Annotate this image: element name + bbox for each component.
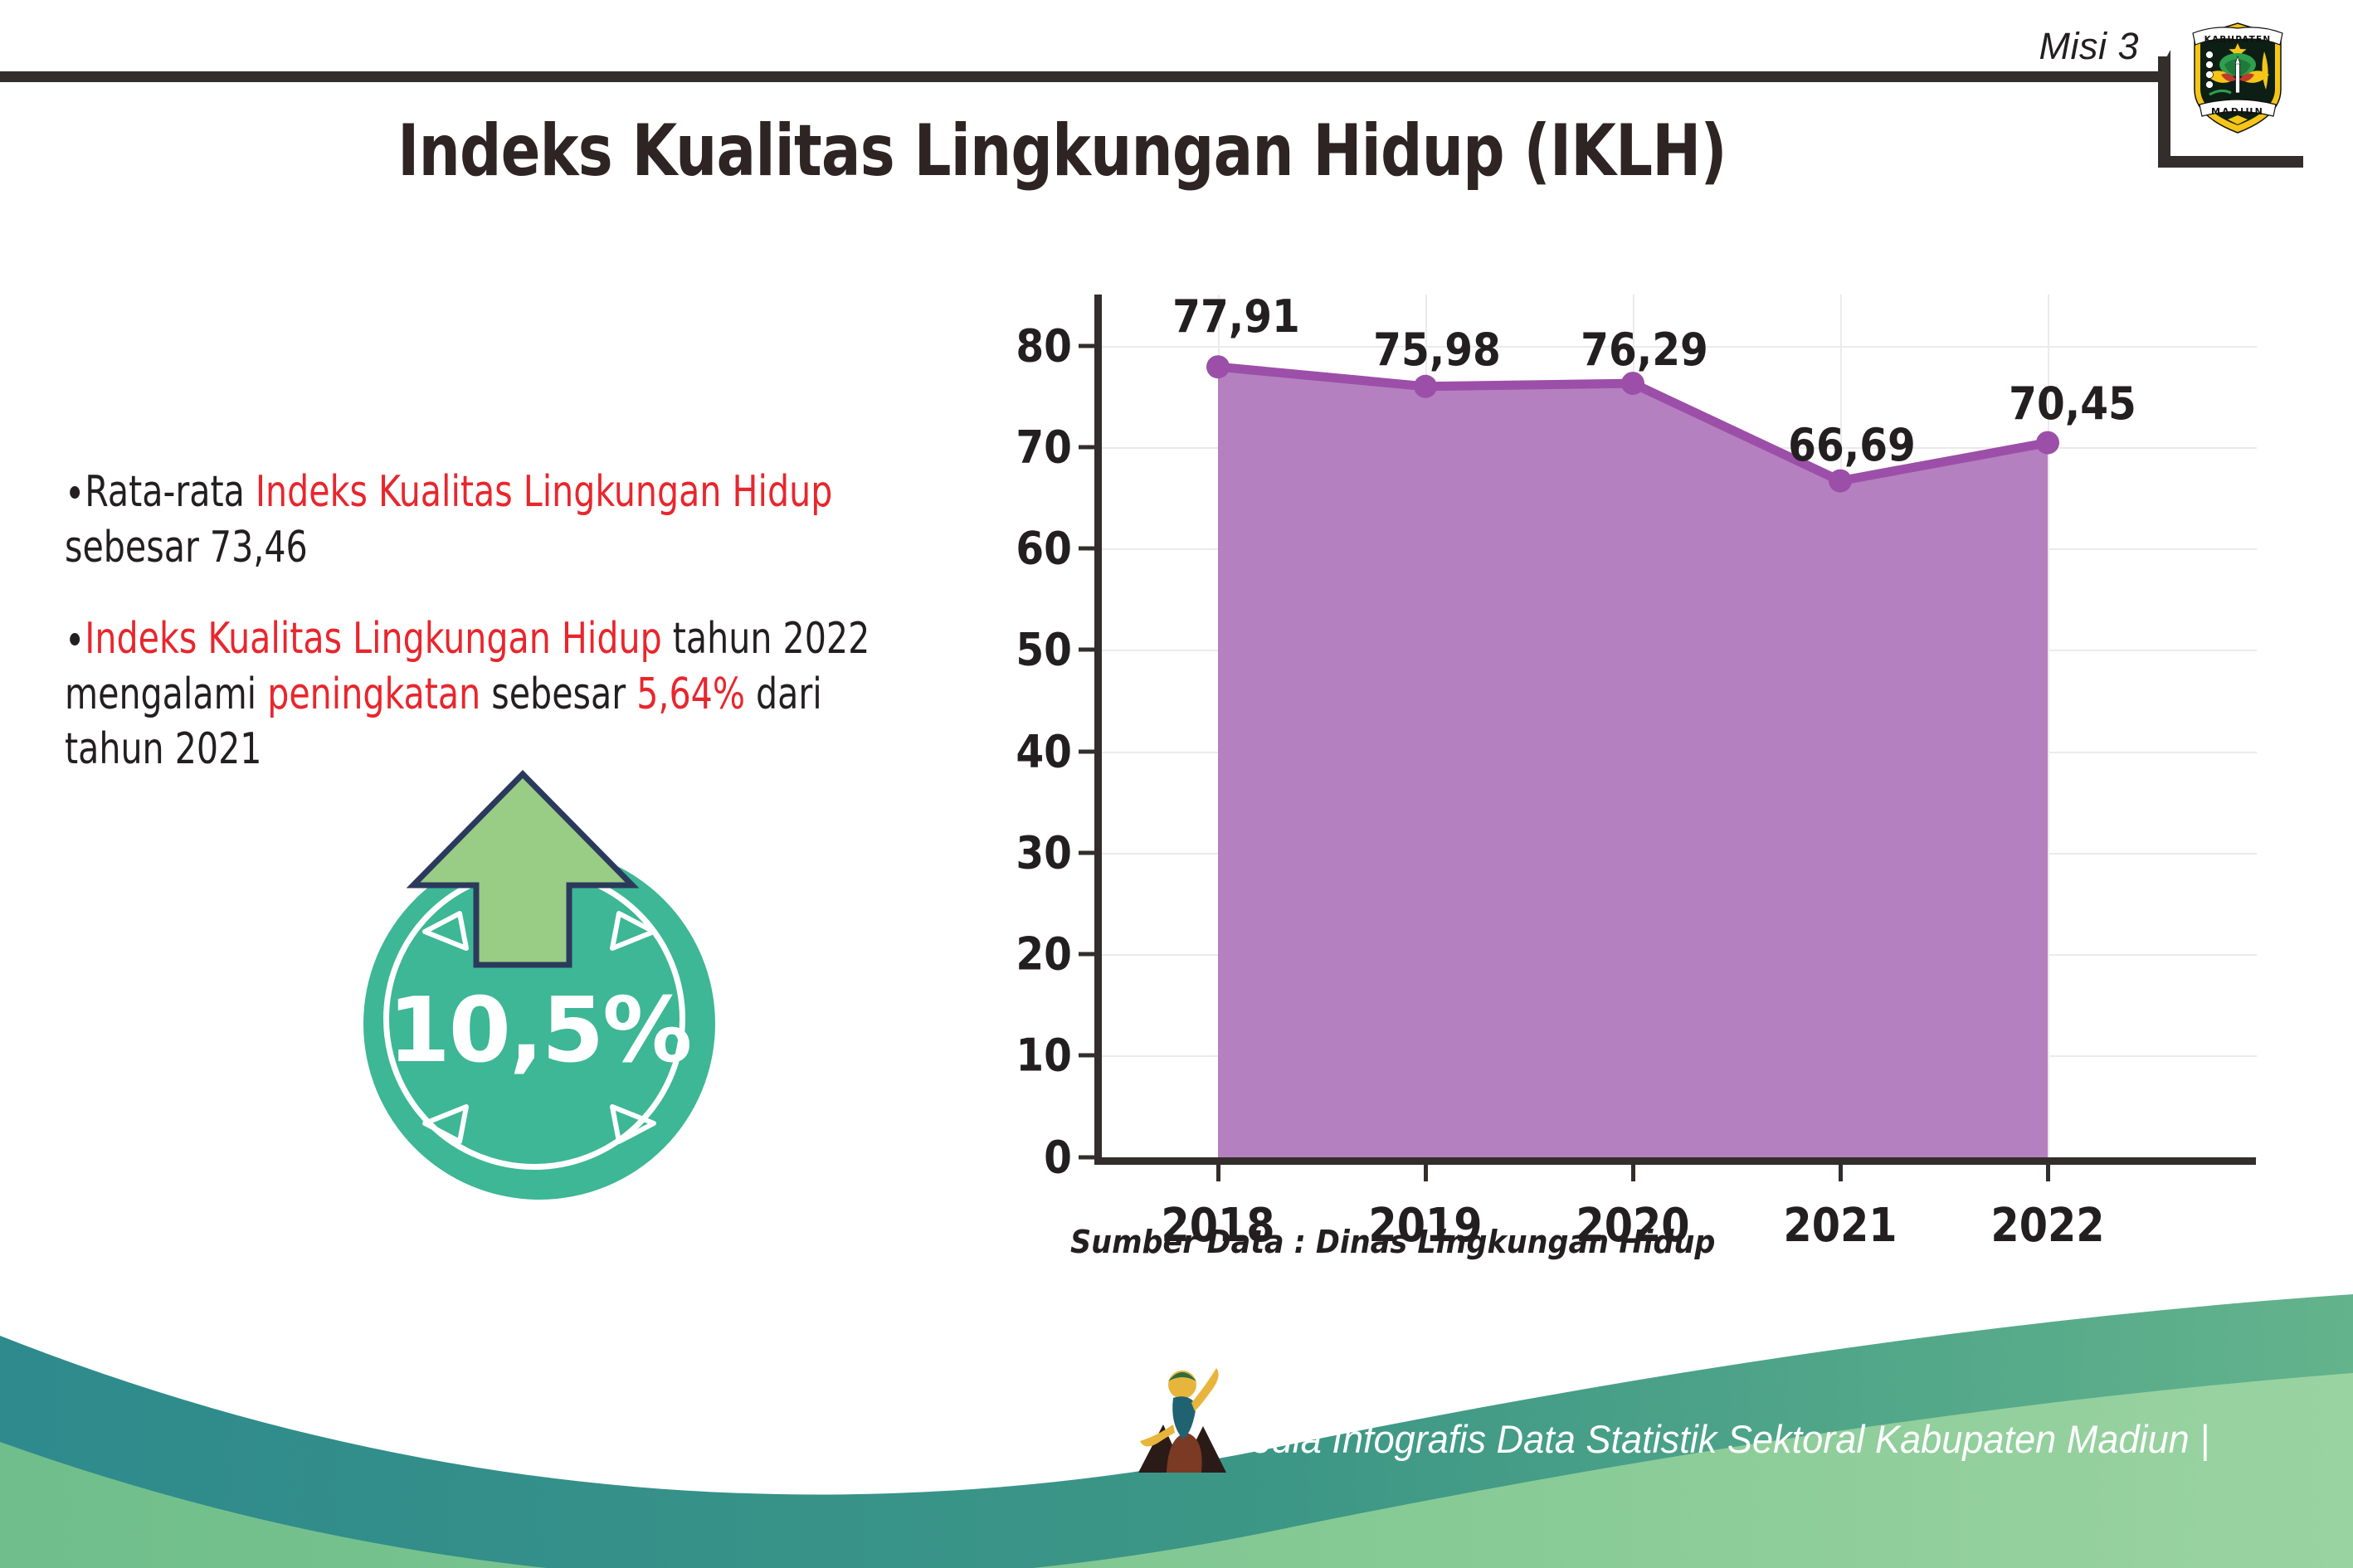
bullet-marker: • bbox=[65, 470, 85, 519]
bullet-item-increase: •Indeks Kualitas Lingkungan Hidup tahun … bbox=[65, 611, 883, 777]
kabupaten-madiun-emblem-icon: KABUPATEN MADIUN bbox=[2188, 18, 2287, 136]
up-arrow-icon bbox=[407, 767, 639, 975]
y-axis-label-40: 40 bbox=[982, 726, 1072, 778]
y-tick-0 bbox=[1079, 1156, 1097, 1160]
y-axis-label-0: 0 bbox=[982, 1132, 1072, 1184]
x-tick-2022 bbox=[2046, 1161, 2050, 1181]
y-tick-70 bbox=[1079, 446, 1097, 450]
data-point-2021 bbox=[1829, 470, 1852, 493]
data-label-2022: 70,45 bbox=[2009, 377, 2136, 430]
data-point-2022 bbox=[2036, 431, 2059, 455]
data-label-2018: 77,91 bbox=[1172, 290, 1300, 343]
header-bracket-horizontal bbox=[2158, 156, 2303, 168]
bullet1-text-part2: sebesar 73,46 bbox=[65, 523, 308, 572]
y-axis-label-30: 30 bbox=[982, 827, 1072, 879]
bullet1-text-part1: Rata-rata bbox=[85, 467, 256, 517]
bullet-marker: • bbox=[65, 616, 85, 666]
data-label-2021: 66,69 bbox=[1788, 419, 1916, 471]
bullet2-highlight-percent: 5,64% bbox=[636, 670, 745, 719]
header-bracket-vertical bbox=[2158, 43, 2170, 168]
data-point-2019 bbox=[1414, 375, 1437, 398]
y-axis-line bbox=[1094, 295, 1102, 1161]
narrative-bullet-list: •Rata-rata Indeks Kualitas Lingkungan Hi… bbox=[65, 465, 994, 814]
y-axis-label-80: 80 bbox=[982, 320, 1072, 373]
footer-caption: Media Infografis Data Statistik Sektoral… bbox=[1220, 1416, 2209, 1462]
bullet2-text-part2: sebesar bbox=[480, 670, 636, 719]
bullet2-highlight-peningkatan: peningkatan bbox=[267, 670, 480, 719]
y-tick-10 bbox=[1079, 1054, 1097, 1058]
y-axis-label-20: 20 bbox=[982, 928, 1072, 981]
misi-label: Misi 3 bbox=[2039, 25, 2139, 68]
y-tick-60 bbox=[1079, 547, 1097, 551]
x-tick-2018 bbox=[1216, 1161, 1220, 1181]
data-label-2019: 75,98 bbox=[1373, 324, 1501, 376]
y-tick-30 bbox=[1079, 851, 1097, 855]
data-label-2020: 76,29 bbox=[1581, 324, 1708, 376]
x-axis-line bbox=[1094, 1157, 2256, 1165]
badge-value-label: 10,5% bbox=[363, 979, 715, 1083]
x-tick-2020 bbox=[1631, 1161, 1635, 1181]
y-tick-40 bbox=[1079, 750, 1097, 754]
y-tick-50 bbox=[1079, 648, 1097, 652]
x-tick-2019 bbox=[1424, 1161, 1428, 1181]
triangle-marker-bottom-right-icon bbox=[606, 1103, 657, 1147]
x-tick-2021 bbox=[1839, 1161, 1843, 1181]
y-axis-label-60: 60 bbox=[982, 523, 1072, 575]
bullet2-highlight-iklh: Indeks Kualitas Lingkungan Hidup bbox=[85, 614, 661, 664]
triangle-marker-bottom-left-icon bbox=[421, 1103, 473, 1147]
y-axis-label-10: 10 bbox=[982, 1030, 1072, 1082]
slide-canvas: Misi 3 KABUPATEN MADIUN Indeks Kualitas … bbox=[0, 0, 2353, 1568]
increase-badge: 10,5% bbox=[332, 767, 763, 1199]
y-axis-label-50: 50 bbox=[982, 624, 1072, 676]
bullet1-highlight-iklh: Indeks Kualitas Lingkungan Hidup bbox=[256, 467, 832, 517]
y-axis-label-70: 70 bbox=[982, 421, 1072, 474]
statistics-figure-logo-icon bbox=[1137, 1356, 1228, 1481]
y-tick-80 bbox=[1079, 344, 1097, 348]
iklh-area-chart: 0 10 20 30 40 50 60 70 80 2018 2019 2020… bbox=[979, 295, 2257, 1182]
header-divider-rule bbox=[0, 71, 2164, 82]
bullet-item-average: •Rata-rata Indeks Kualitas Lingkungan Hi… bbox=[65, 465, 883, 575]
data-point-2018 bbox=[1206, 355, 1230, 378]
page-title: Indeks Kualitas Lingkungan Hidup (IKLH) bbox=[191, 110, 1932, 192]
y-tick-20 bbox=[1079, 952, 1097, 957]
